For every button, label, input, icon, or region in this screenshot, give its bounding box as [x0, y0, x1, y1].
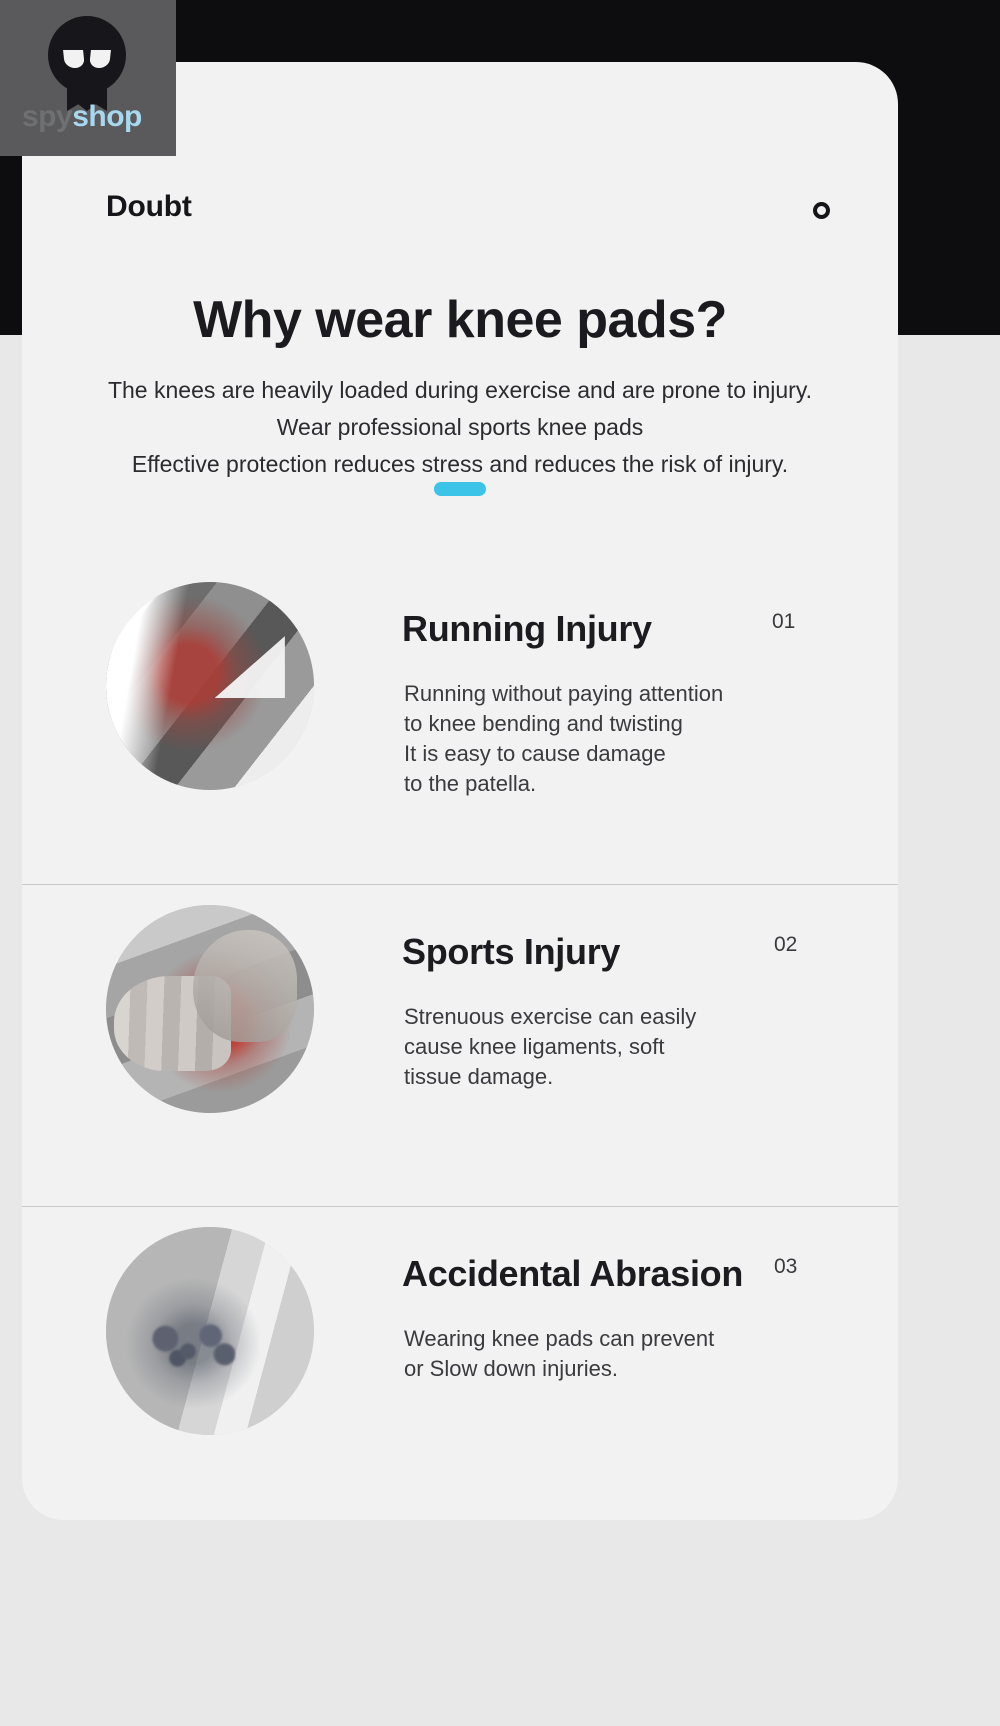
- list-item[interactable]: Sports Injury 02 Strenuous exercise can …: [22, 884, 898, 1206]
- feature-number: 01: [772, 610, 795, 634]
- accent-divider-pill: [434, 482, 486, 496]
- feature-thumbnail: [106, 582, 314, 790]
- feature-title: Accidental Abrasion: [402, 1253, 743, 1295]
- feature-thumbnail: [106, 1227, 314, 1435]
- feature-list: Running Injury 01 Running without paying…: [22, 562, 898, 1520]
- list-item[interactable]: Running Injury 01 Running without paying…: [22, 562, 898, 884]
- hero-subtitle: The knees are heavily loaded during exer…: [22, 372, 898, 483]
- list-item[interactable]: Accidental Abrasion 03 Wearing knee pads…: [22, 1206, 898, 1520]
- sports-injury-photo: [106, 905, 314, 1113]
- product-detail-page: Doubt Why wear knee pads? The knees are …: [0, 0, 1000, 1726]
- content-card: Doubt Why wear knee pads? The knees are …: [22, 62, 898, 1520]
- accidental-abrasion-photo: [106, 1227, 314, 1435]
- feature-thumbnail: [106, 905, 314, 1113]
- hero-title: Why wear knee pads?: [22, 290, 898, 350]
- feature-description: Wearing knee pads can prevent or Slow do…: [404, 1324, 824, 1384]
- feature-title: Sports Injury: [402, 931, 620, 973]
- running-injury-photo: [106, 582, 314, 790]
- feature-description: Running without paying attention to knee…: [404, 679, 824, 799]
- logo-backdrop-panel: [0, 0, 176, 156]
- feature-number: 03: [774, 1255, 797, 1279]
- page-title: Doubt: [106, 190, 192, 224]
- card-header: Doubt: [22, 180, 898, 260]
- feature-number: 02: [774, 933, 797, 957]
- feature-description: Strenuous exercise can easily cause knee…: [404, 1002, 824, 1092]
- circle-ring-icon[interactable]: [813, 202, 830, 219]
- feature-title: Running Injury: [402, 608, 652, 650]
